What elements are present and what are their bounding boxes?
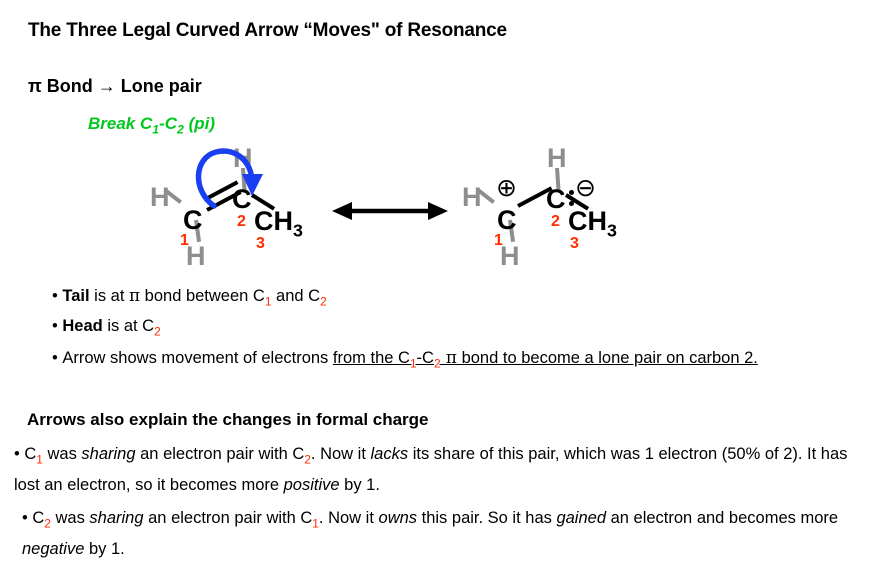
p1-d: . Now it [311, 445, 371, 463]
underline-a: from the C [333, 349, 410, 367]
label-carbon-3-right: 3 [570, 236, 579, 252]
tail-mid-b: bond between C [140, 287, 265, 305]
formal-charge-heading: Arrows also explain the changes in forma… [27, 410, 429, 430]
formal-charge-paragraph-c2: • C2 was sharing an electron pair with C… [22, 505, 862, 562]
p2-g: by 1. [84, 540, 124, 558]
bullet-head: • Head is at C2 [52, 314, 852, 344]
resonance-double-headed-arrow [332, 196, 452, 226]
p1-sub2: 2 [304, 452, 311, 466]
tail-mid-a: is at [90, 287, 129, 305]
p1-sharing: sharing [81, 445, 135, 463]
underline-c: bond to become a lone pair on carbon 2. [457, 349, 758, 367]
label-carbon-2-right: 2 [551, 214, 560, 230]
label-carbon-1: 1 [180, 233, 189, 249]
positive-charge-badge: ⊕ [496, 176, 517, 201]
pi-symbol-tail: π [129, 285, 140, 305]
arrow-description-list: • Tail is at π bond between C1 and C2 • … [52, 283, 852, 376]
p1-b: was [43, 445, 82, 463]
p2-negative: negative [22, 540, 84, 558]
p2-gained: gained [556, 509, 606, 527]
underline-b: -C [417, 349, 434, 367]
break-word: Break [88, 114, 135, 133]
p1-f: by 1. [340, 476, 380, 494]
p1-lacks: lacks [371, 445, 409, 463]
break-c2: C [165, 114, 177, 133]
p2-owns: owns [379, 509, 418, 527]
atom-h-top-right: H [547, 145, 567, 172]
pi-symbol-underline: π [441, 347, 457, 367]
ch3-subscript-right: 3 [607, 220, 617, 240]
bullet-tail: • Tail is at π bond between C1 and C2 [52, 283, 852, 314]
underline-sub2: 2 [434, 356, 441, 370]
tail-keyword: Tail [62, 287, 89, 305]
right-structure-zwitterion: H C H H C CH3 ⊕ ⊖ 1 2 3 [440, 138, 740, 278]
label-carbon-1-right: 1 [494, 233, 503, 249]
p2-b: was [51, 509, 90, 527]
arrow-shows-plain: Arrow shows movement of electrons [62, 349, 333, 367]
head-keyword: Head [62, 317, 102, 335]
p1-c2text: an electron pair with C [136, 445, 305, 463]
move-type-heading: π Bond → Lone pair [28, 76, 202, 97]
atom-h-left: H [150, 184, 170, 211]
atom-c1-right: C [497, 207, 517, 234]
ch3-label-right: CH [568, 206, 607, 236]
p1-c: C [24, 445, 36, 463]
tail-c2-subscript: 2 [320, 294, 327, 308]
p2-sharing: sharing [89, 509, 143, 527]
break-c2-subscript: 2 [177, 122, 184, 136]
p1-positive: positive [284, 476, 340, 494]
negative-charge-badge: ⊖ [575, 176, 596, 201]
resonance-structures: H C H H C CH3 1 2 3 H C H H [0, 138, 886, 278]
break-bond-label: Break C1-C2 (pi) [88, 114, 215, 136]
p2-sub1: 2 [44, 516, 51, 530]
arrow-shows-underlined: from the C1-C2 π bond to become a lone p… [333, 349, 758, 367]
atom-h-left-right: H [462, 184, 482, 211]
head-mid: is at C [103, 317, 154, 335]
formal-charge-paragraph-c1: • C1 was sharing an electron pair with C… [14, 441, 874, 498]
lone-pair-dot-lower [569, 201, 574, 206]
atom-c2-right: C [546, 186, 566, 213]
p2-c: C [32, 509, 44, 527]
p2-e: this pair. So it has [417, 509, 556, 527]
page-title: The Three Legal Curved Arrow “Moves" of … [28, 20, 507, 42]
p1-sub1: 1 [36, 452, 43, 466]
tail-mid-c: and C [271, 287, 320, 305]
break-suffix: (pi) [189, 114, 215, 133]
head-c2-subscript: 2 [154, 325, 161, 339]
underline-sub1: 1 [410, 356, 417, 370]
left-structure-propene: H C H H C CH3 1 2 3 [0, 138, 340, 278]
label-carbon-3: 3 [256, 236, 265, 252]
p2-d: . Now it [319, 509, 379, 527]
bullet-arrow-shows: • Arrow shows movement of electrons from… [52, 345, 842, 376]
blue-curved-arrow-icon [180, 144, 290, 224]
break-c1: C [140, 114, 152, 133]
p2-c1text: an electron pair with C [144, 509, 313, 527]
p2-sub2: 1 [312, 516, 319, 530]
ch3-subscript: 3 [293, 220, 303, 240]
p2-f: an electron and becomes more [606, 509, 838, 527]
lone-pair-dot-upper [569, 190, 574, 195]
